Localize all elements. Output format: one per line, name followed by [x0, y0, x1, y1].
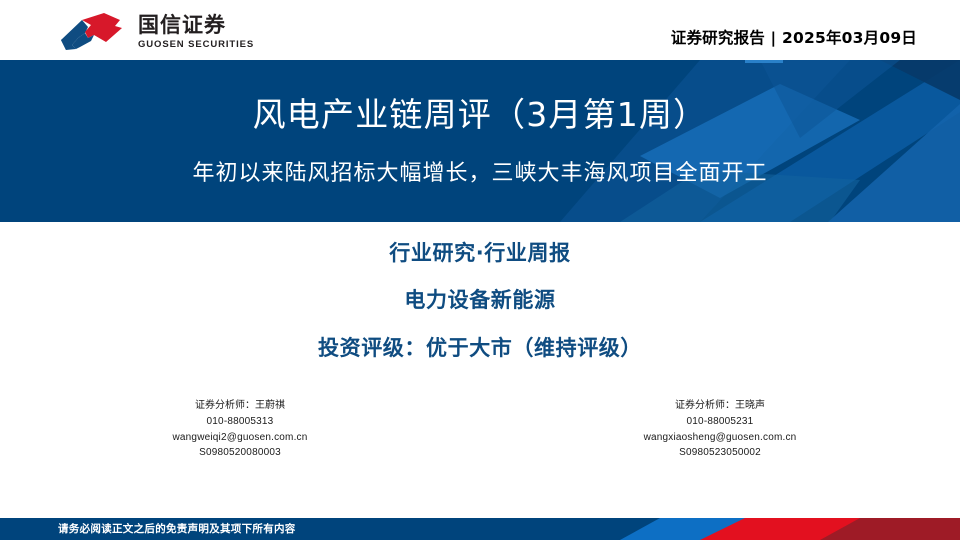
logo-name-en: GUOSEN SECURITIES: [138, 39, 254, 50]
report-title: 风电产业链周评（3月第1周）: [0, 88, 960, 136]
analyst-email[interactable]: wangweiqi2@guosen.com.cn: [0, 430, 480, 446]
analyst-phone: 010-88005313: [0, 414, 480, 430]
analyst-name: 证券分析师：王晓声: [480, 398, 960, 414]
title-banner: 风电产业链周评（3月第1周） 年初以来陆风招标大幅增长，三峡大丰海风项目全面开工: [0, 60, 960, 222]
page-footer: 请务必阅读正文之后的免责声明及其项下所有内容: [0, 518, 960, 540]
logo-wordmark: 国信证券 GUOSEN SECURITIES: [138, 11, 254, 50]
banner-decorative-pattern: [0, 60, 960, 222]
analyst-name: 证券分析师：王蔚祺: [0, 398, 480, 414]
analyst-entry-1: 证券分析师：王蔚祺 010-88005313 wangweiqi2@guosen…: [0, 398, 480, 461]
guosen-logo-icon: [58, 11, 132, 55]
industry-research-label: 行业研究·行业周报: [0, 237, 960, 267]
analyst-email[interactable]: wangxiaosheng@guosen.com.cn: [480, 430, 960, 446]
report-cover-page: 国信证券 GUOSEN SECURITIES 证券研究报告 | 2025年03月…: [0, 0, 960, 540]
analyst-entry-2: 证券分析师：王晓声 010-88005231 wangxiaosheng@guo…: [480, 398, 960, 461]
logo-name-cn: 国信证券: [138, 14, 254, 36]
report-classification-block: 行业研究·行业周报 电力设备新能源 投资评级：优于大市（维持评级）: [0, 222, 960, 362]
sector-label: 电力设备新能源: [0, 284, 960, 314]
brand-logo: 国信证券 GUOSEN SECURITIES: [58, 11, 254, 55]
analyst-license-number: S0980523050002: [480, 445, 960, 461]
analyst-phone: 010-88005231: [480, 414, 960, 430]
investment-rating-label: 投资评级：优于大市（维持评级）: [0, 332, 960, 362]
footer-disclaimer: 请务必阅读正文之后的免责声明及其项下所有内容: [58, 518, 296, 540]
report-subtitle: 年初以来陆风招标大幅增长，三峡大丰海风项目全面开工: [0, 155, 960, 187]
report-type-and-date: 证券研究报告 | 2025年03月09日: [671, 26, 917, 48]
analyst-contact-block: 证券分析师：王蔚祺 010-88005313 wangweiqi2@guosen…: [0, 398, 960, 461]
page-header: 国信证券 GUOSEN SECURITIES 证券研究报告 | 2025年03月…: [0, 0, 960, 60]
analyst-license-number: S0980520080003: [0, 445, 480, 461]
